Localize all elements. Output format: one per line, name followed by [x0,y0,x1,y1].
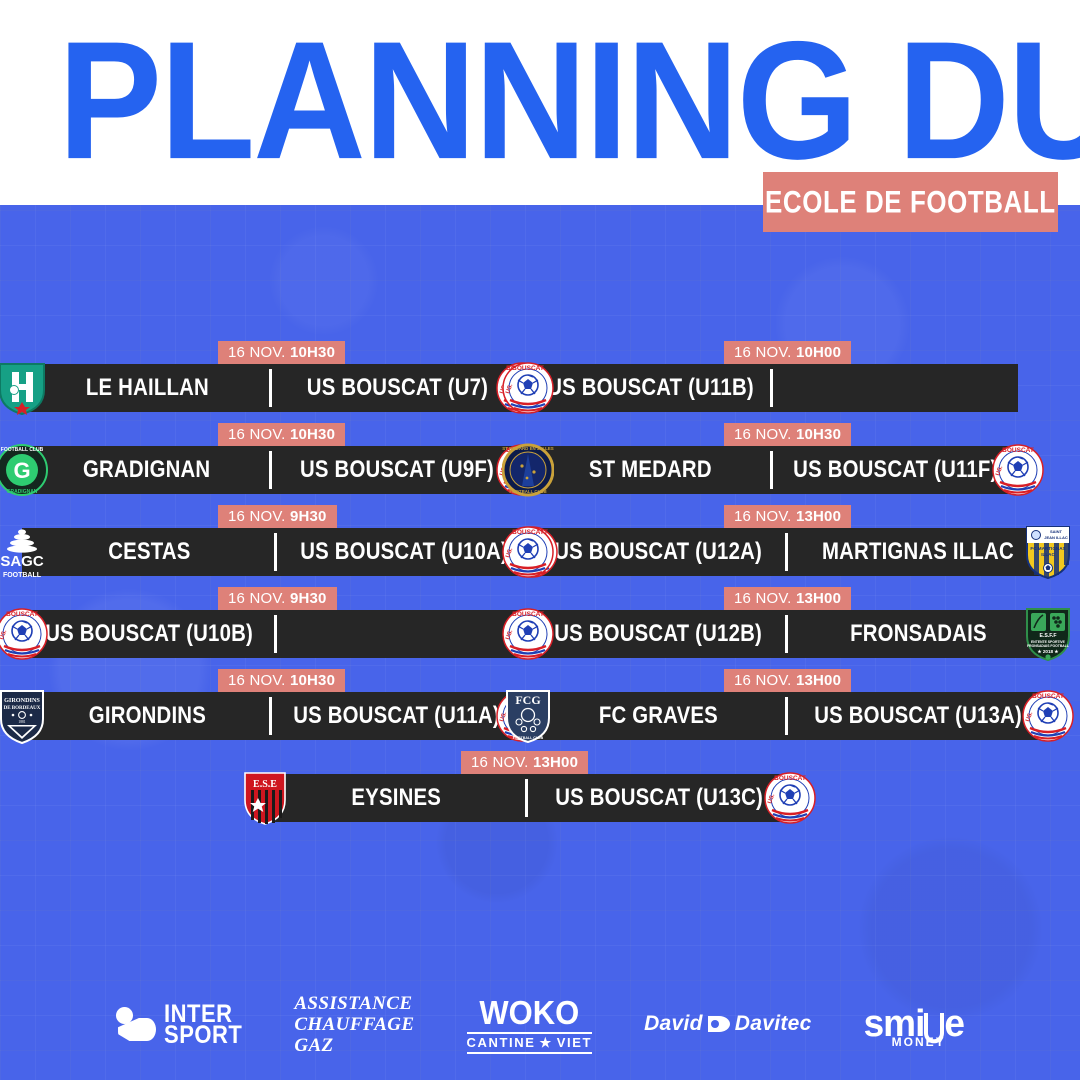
acg-line3: GAZ [294,1035,414,1056]
match-date: 16 NOV. [734,344,792,361]
match-date: 16 NOV. [734,508,792,525]
match-row: 16 NOV. 10H30GRADIGNANUS BOUSCAT (U9F)16… [0,412,1080,494]
home-team[interactable]: CESTAS [22,528,277,576]
match-date: 16 NOV. [228,426,286,443]
away-team[interactable]: US BOUSCAT (U10A) [277,528,532,576]
davitec-eye-icon [708,1016,730,1032]
woko-cantine: CANTINE [467,1035,536,1050]
fixture-right[interactable]: 16 NOV. 10H00US BOUSCAT (U11B) [528,364,1018,412]
match-row: 16 NOV. 10H30LE HAILLANUS BOUSCAT (U7)16… [0,330,1080,412]
fixture-left[interactable]: 16 NOV. 10H30GRADIGNANUS BOUSCAT (U9F) [22,446,522,494]
match-hour: 9H30 [290,590,327,607]
intersport-logo: INTER SPORT [116,1005,242,1043]
school-badge-label: ECOLE DE FOOTBALL [765,184,1056,221]
sponsor-bar: INTER SPORT ASSISTANCE CHAUFFAGE GAZ WOK… [0,984,1080,1064]
match-hour: 13H00 [533,754,578,771]
fixture-left[interactable]: 16 NOV. 10H30LE HAILLANUS BOUSCAT (U7) [22,364,522,412]
eysines-crest [239,770,291,826]
intersport-mark-icon [116,1007,156,1041]
le-haillan-crest [0,360,48,416]
home-team-name: EYSINES [351,784,441,811]
martignas-illac-crest [1022,524,1074,580]
kickoff-time-badge: 16 NOV. 13H00 [461,751,588,774]
woko-wordmark: WOKO [479,993,579,1032]
home-team[interactable]: LE HAILLAN [22,364,272,412]
kickoff-time-badge: 16 NOV. 9H30 [218,587,337,610]
home-team-name: US BOUSCAT (U12B) [554,620,762,647]
home-team-name: LE HAILLAN [85,374,208,401]
fixture-left[interactable]: 16 NOV. 10H30GIRONDINSUS BOUSCAT (U11A) [22,692,522,740]
away-team-name: US BOUSCAT (U13A) [814,702,1022,729]
us-bouscat-crest [764,770,816,826]
match-hour: 13H00 [796,508,841,525]
david-word2: Davitec [735,1012,812,1036]
us-bouscat-crest [992,442,1044,498]
schedule-list: 16 NOV. 10H30LE HAILLANUS BOUSCAT (U7)16… [0,330,1080,822]
status-badge: ECOLE DE FOOTBALL [763,172,1058,232]
david-word1: David [644,1012,703,1036]
match-date: 16 NOV. [734,672,792,689]
away-team-name: US BOUSCAT (U11A) [294,702,501,729]
kickoff-time-badge: 16 NOV. 9H30 [218,505,337,528]
away-team[interactable]: MARTIGNAS ILLAC [788,528,1048,576]
home-team-name: US BOUSCAT (U12A) [554,538,762,565]
us-bouscat-crest [502,606,554,662]
match-hour: 10H30 [796,426,841,443]
fixture-right[interactable]: 16 NOV. 13H00US BOUSCAT (U12B)FRONSADAIS [528,610,1048,658]
woko-viet: VIET [557,1035,592,1050]
away-team-name: US BOUSCAT (U11F) [793,456,997,483]
home-team[interactable]: GIRONDINS [22,692,272,740]
away-team-name: MARTIGNAS ILLAC [822,538,1014,565]
kickoff-time-badge: 16 NOV. 13H00 [724,505,851,528]
kickoff-time-badge: 16 NOV. 10H30 [724,423,851,446]
kickoff-time-badge: 16 NOV. 13H00 [724,669,851,692]
away-team[interactable]: US BOUSCAT (U11F) [773,446,1018,494]
away-team[interactable] [277,610,532,658]
home-team[interactable]: US BOUSCAT (U12B) [528,610,788,658]
fixture-left[interactable]: 16 NOV. 9H30CESTASUS BOUSCAT (U10A) [22,528,532,576]
home-team[interactable]: EYSINES [265,774,528,822]
smile-part2: e [944,1003,964,1045]
intersport-line2: SPORT [164,1024,242,1045]
kickoff-time-badge: 16 NOV. 10H30 [218,423,345,446]
match-date: 16 NOV. [228,590,286,607]
home-team[interactable]: US BOUSCAT (U11B) [528,364,773,412]
us-bouscat-crest [502,360,554,416]
match-date: 16 NOV. [228,344,286,361]
away-team[interactable]: US BOUSCAT (U9F) [272,446,522,494]
star-icon: ★ [539,1035,552,1051]
assistance-chauffage-gaz-logo: ASSISTANCE CHAUFFAGE GAZ [294,993,414,1056]
fixture-left[interactable]: 16 NOV. 9H30US BOUSCAT (U10B) [22,610,532,658]
gradignan-crest [0,442,48,498]
match-hour: 10H30 [290,344,335,361]
home-team[interactable]: ST MEDARD [528,446,773,494]
kickoff-time-badge: 16 NOV. 10H30 [218,669,345,692]
sagc-cestas-crest [0,524,48,580]
fixture-right[interactable]: 16 NOV. 10H30ST MEDARDUS BOUSCAT (U11F) [528,446,1018,494]
smile-money-logo: smie MONEY [864,1003,964,1045]
home-team-name: US BOUSCAT (U10B) [46,620,254,647]
away-team[interactable]: US BOUSCAT (U13A) [788,692,1048,740]
match-hour: 9H30 [290,508,327,525]
home-team-name: US BOUSCAT (U11B) [547,374,754,401]
away-team[interactable]: US BOUSCAT (U13C) [528,774,791,822]
kickoff-time-badge: 16 NOV. 13H00 [724,587,851,610]
home-team[interactable]: US BOUSCAT (U10B) [22,610,277,658]
away-team-name: US BOUSCAT (U13C) [555,784,763,811]
away-team[interactable] [773,364,1018,412]
home-team-name: FC GRAVES [598,702,717,729]
match-date: 16 NOV. [471,754,529,771]
match-row: 16 NOV. 13H00EYSINESUS BOUSCAT (U13C) [0,740,1080,822]
match-hour: 13H00 [796,672,841,689]
acg-line2: CHAUFFAGE [294,1014,414,1035]
match-hour: 13H00 [796,590,841,607]
match-date: 16 NOV. [734,426,792,443]
fixture-right[interactable]: 16 NOV. 13H00FC GRAVESUS BOUSCAT (U13A) [528,692,1048,740]
home-team-name: GRADIGNAN [83,456,210,483]
away-team-name: US BOUSCAT (U7) [306,374,487,401]
away-team-name: FRONSADAIS [850,620,987,647]
girondins-bordeaux-crest [0,688,48,744]
woko-logo: WOKO CANTINE ★ VIET [467,995,593,1054]
kickoff-time-badge: 16 NOV. 10H30 [218,341,345,364]
us-bouscat-crest [0,606,48,662]
smile-money-sub: MONEY [892,1035,946,1049]
match-row: 16 NOV. 9H30CESTASUS BOUSCAT (U10A)16 NO… [0,494,1080,576]
match-date: 16 NOV. [734,590,792,607]
acg-line1: ASSISTANCE [294,993,414,1014]
match-row: 16 NOV. 10H30GIRONDINSUS BOUSCAT (U11A)1… [0,658,1080,740]
away-team[interactable]: US BOUSCAT (U7) [272,364,522,412]
fixture-center[interactable]: 16 NOV. 13H00EYSINESUS BOUSCAT (U13C) [265,774,790,822]
away-team-name: US BOUSCAT (U10A) [301,538,509,565]
home-team[interactable]: GRADIGNAN [22,446,272,494]
home-team[interactable]: FC GRAVES [528,692,788,740]
kickoff-time-badge: 16 NOV. 10H00 [724,341,851,364]
home-team-name: CESTAS [108,538,190,565]
us-bouscat-crest [1022,688,1074,744]
home-team-name: ST MEDARD [589,456,712,483]
home-team-name: GIRONDINS [88,702,205,729]
st-medard-crest [502,442,554,498]
match-hour: 10H30 [290,672,335,689]
away-team[interactable]: US BOUSCAT (U11A) [272,692,522,740]
fixture-right[interactable]: 16 NOV. 13H00US BOUSCAT (U12A)MARTIGNAS … [528,528,1048,576]
david-davitec-logo: David Davitec [644,1012,812,1036]
fronsadais-crest [1022,606,1074,662]
match-date: 16 NOV. [228,672,286,689]
away-team[interactable]: FRONSADAIS [788,610,1048,658]
away-team-name: US BOUSCAT (U9F) [300,456,494,483]
home-team[interactable]: US BOUSCAT (U12A) [528,528,788,576]
us-bouscat-crest [502,524,554,580]
match-row: 16 NOV. 9H30US BOUSCAT (U10B)16 NOV. 13H… [0,576,1080,658]
match-date: 16 NOV. [228,508,286,525]
match-hour: 10H30 [290,426,335,443]
match-hour: 10H00 [796,344,841,361]
fc-graves-crest [502,688,554,744]
